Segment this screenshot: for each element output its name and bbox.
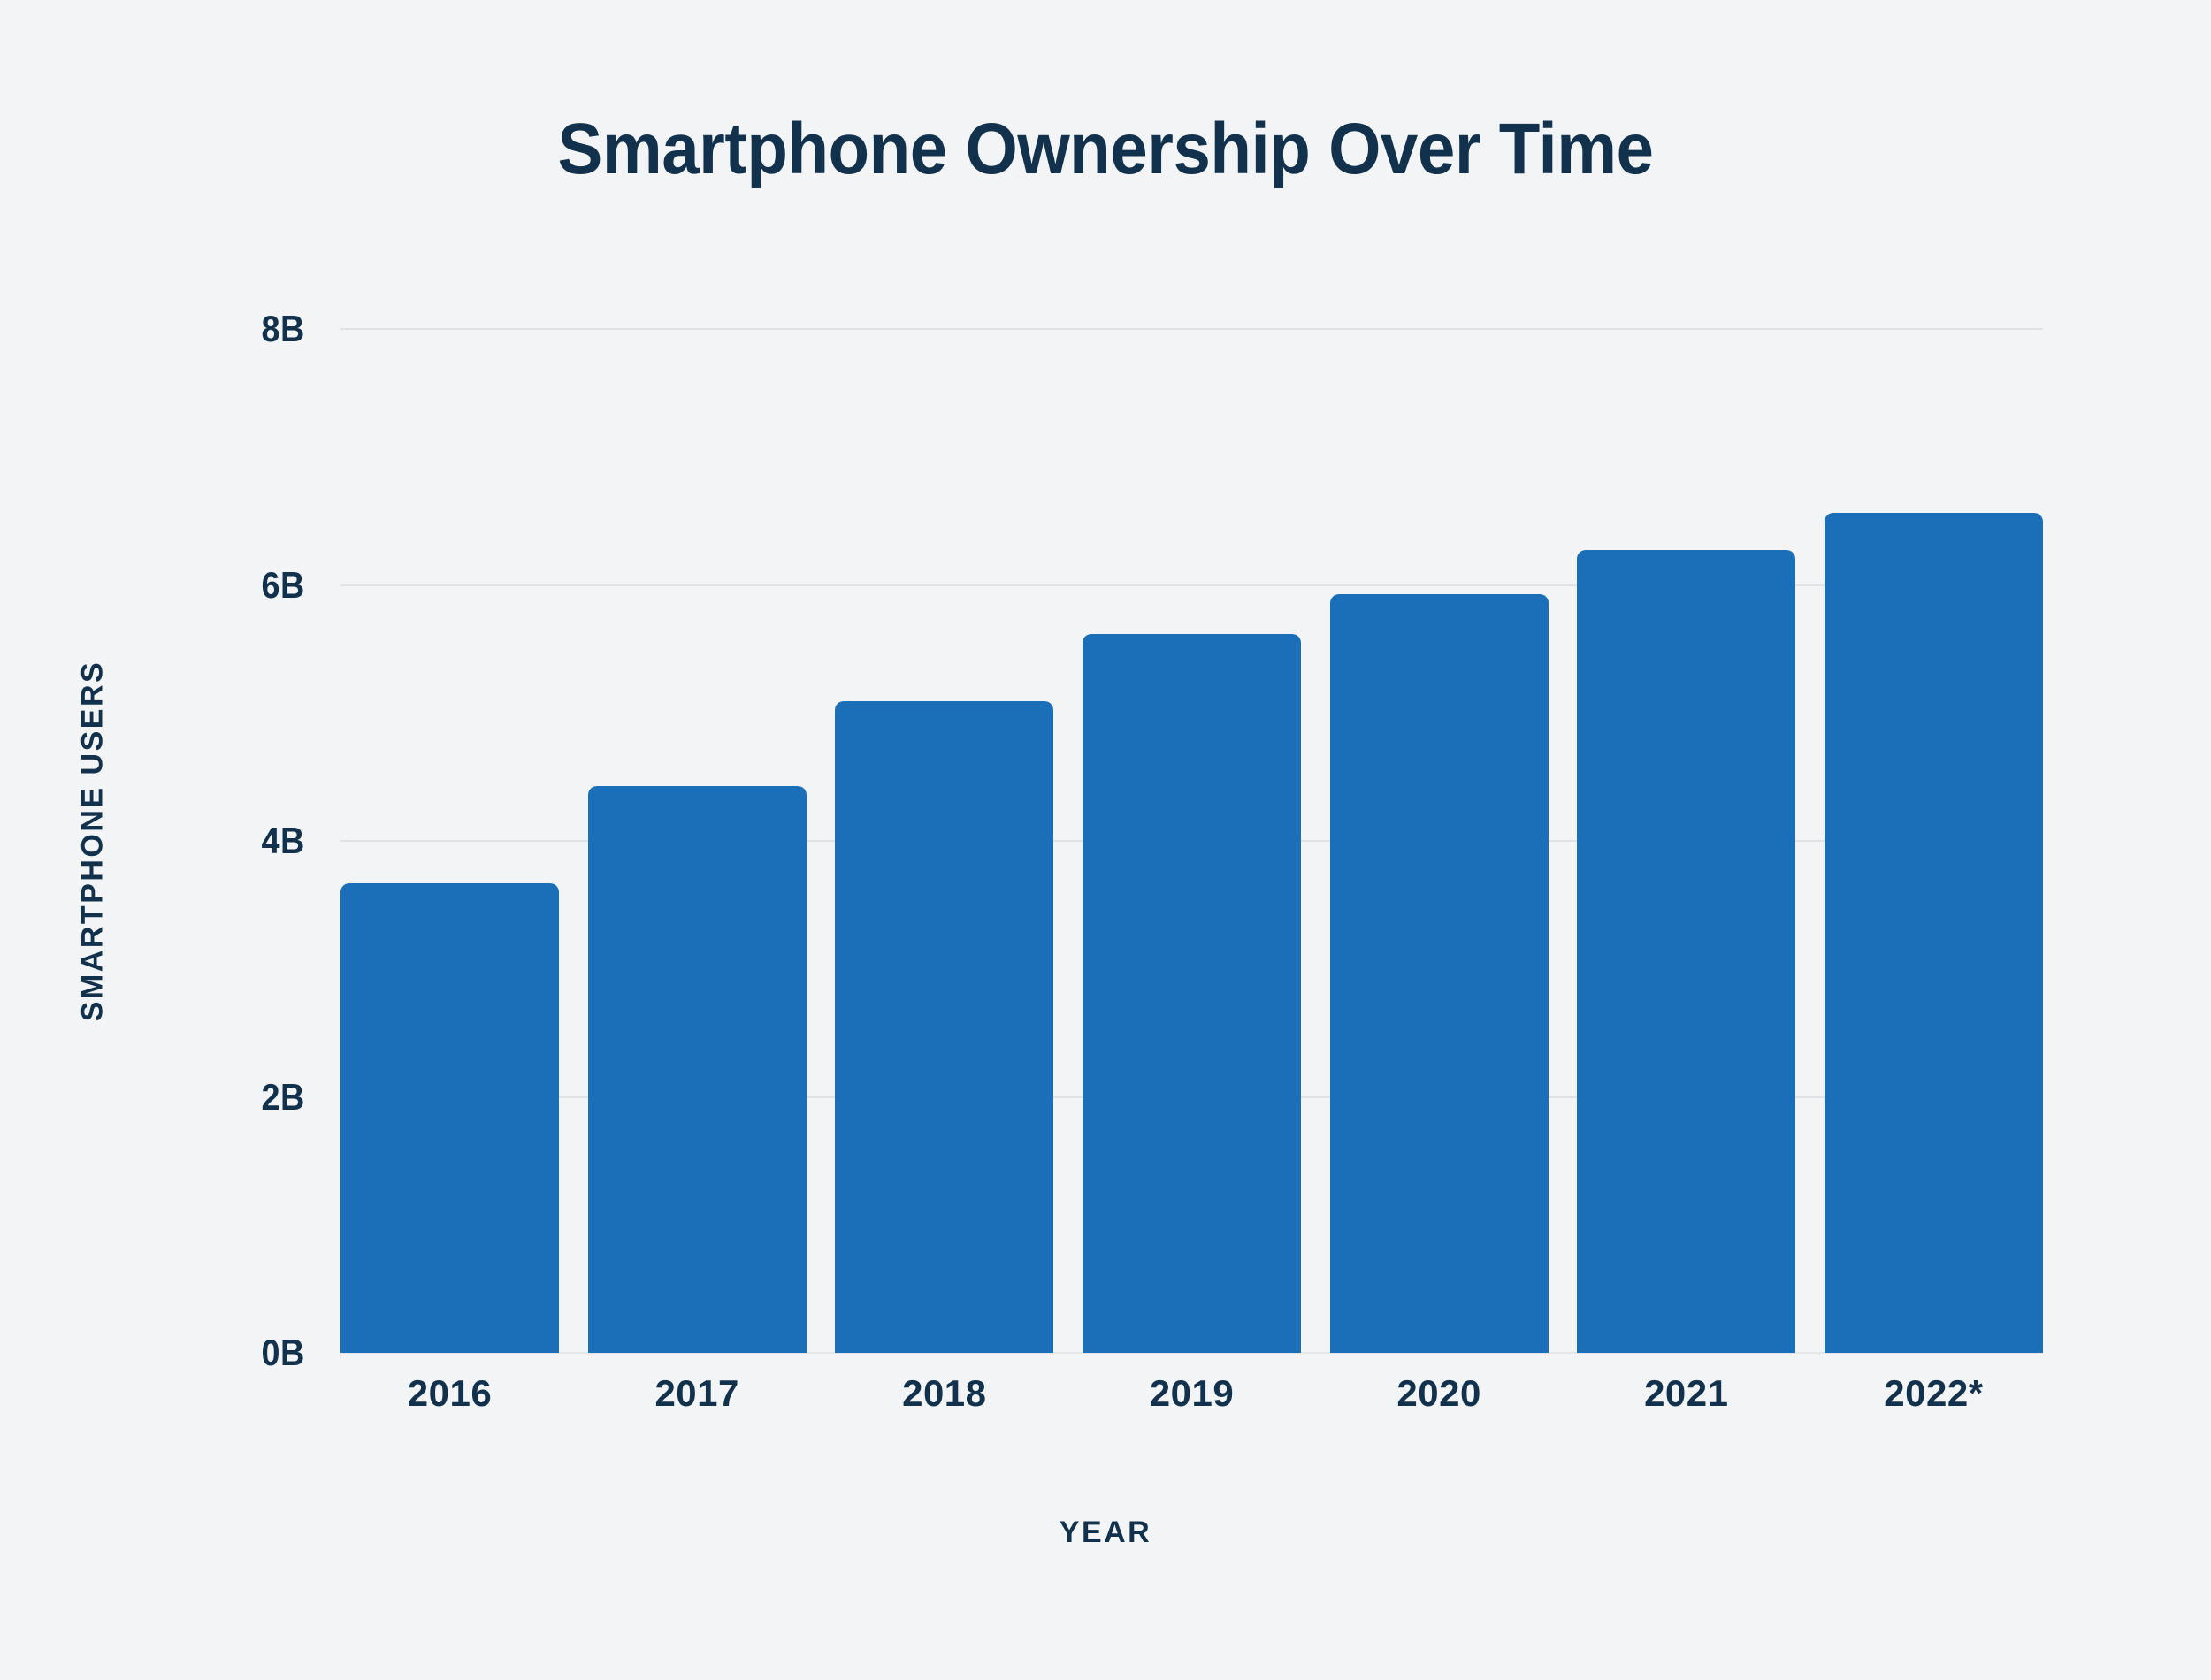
bar[interactable] (1083, 634, 1301, 1353)
x-axis-title: YEAR (0, 1516, 2211, 1550)
x-axis-tick-label: 2021 (1577, 1372, 1795, 1415)
bar-slot (1825, 329, 2043, 1353)
bar[interactable] (340, 883, 559, 1353)
x-axis-tick-label: 2017 (588, 1372, 807, 1415)
y-axis-tick-label: 2B (262, 1076, 305, 1119)
bar[interactable] (1577, 550, 1795, 1353)
bar-slot (588, 329, 807, 1353)
y-axis: 0B2B4B6B8B (0, 0, 340, 1680)
bar[interactable] (1825, 513, 2043, 1353)
bar-slot (835, 329, 1053, 1353)
x-axis-tick-label: 2018 (835, 1372, 1053, 1415)
x-axis-tick-label: 2022* (1825, 1372, 2043, 1415)
y-axis-tick-label: 0B (262, 1332, 305, 1374)
chart-title: Smartphone Ownership Over Time (78, 113, 2134, 186)
bar-chart: Smartphone Ownership Over Time 0B2B4B6B8… (0, 0, 2211, 1680)
bar[interactable] (835, 701, 1053, 1353)
bar-slot (1577, 329, 1795, 1353)
bar-group (340, 329, 2043, 1353)
bar[interactable] (588, 786, 807, 1353)
bar-slot (1083, 329, 1301, 1353)
y-axis-tick-label: 6B (262, 564, 305, 607)
x-axis: 2016201720182019202020212022* (340, 1372, 2043, 1415)
bar-slot (1330, 329, 1549, 1353)
x-axis-tick-label: 2020 (1330, 1372, 1549, 1415)
y-axis-tick-label: 4B (262, 820, 305, 862)
x-axis-tick-label: 2016 (340, 1372, 559, 1415)
y-axis-title: SMARTPHONE USERS (76, 661, 111, 1021)
y-axis-tick-label: 8B (262, 308, 305, 350)
bar[interactable] (1330, 594, 1549, 1353)
plot-area (340, 329, 2043, 1353)
x-axis-tick-label: 2019 (1083, 1372, 1301, 1415)
bar-slot (340, 329, 559, 1353)
